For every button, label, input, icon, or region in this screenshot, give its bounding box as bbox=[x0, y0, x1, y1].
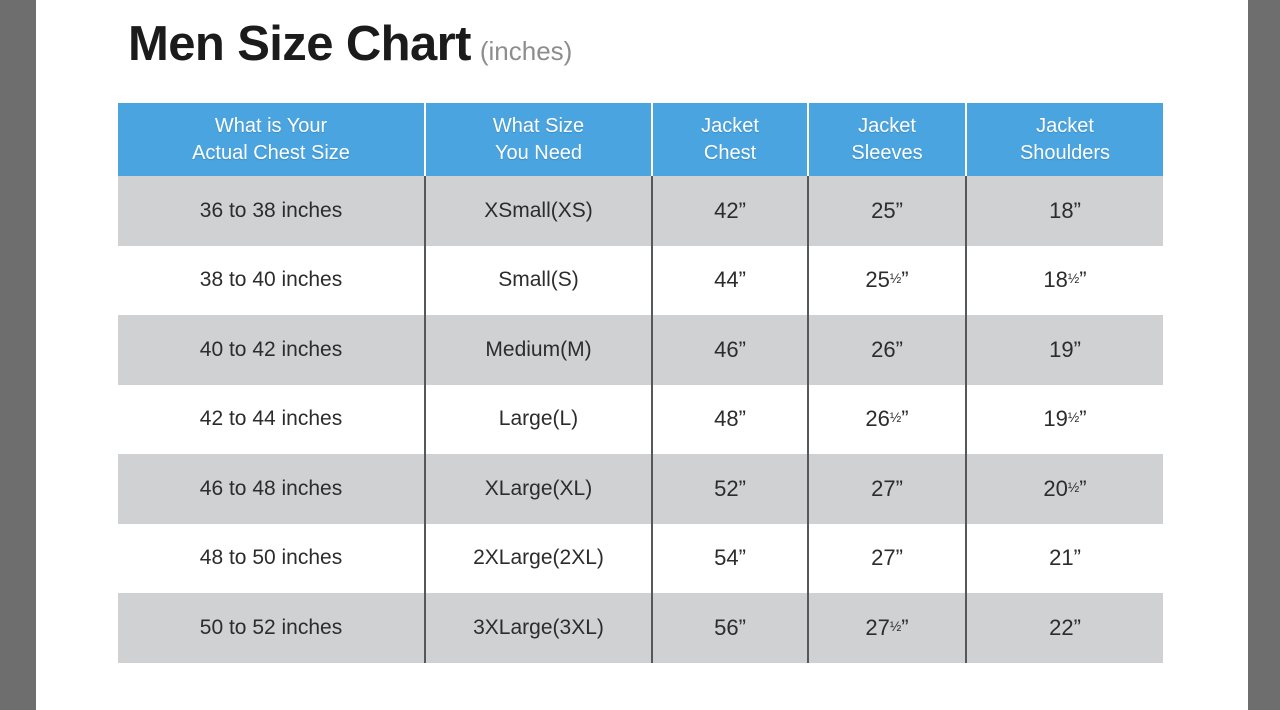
measurement-value: 27 bbox=[865, 615, 889, 640]
inch-mark: ” bbox=[1079, 476, 1086, 501]
page-title: Men Size Chart (inches) bbox=[128, 20, 572, 69]
cell-actual-chest-size: 50 to 52 inches bbox=[118, 593, 425, 663]
inch-mark: ” bbox=[739, 545, 746, 570]
cell-jacket-shoulders: 19½” bbox=[966, 385, 1163, 455]
measurement-value: 18 bbox=[1043, 267, 1067, 292]
slide-canvas: Men Size Chart (inches) What is Your Act… bbox=[36, 0, 1248, 710]
cell-size-you-need: 2XLarge(2XL) bbox=[425, 524, 652, 594]
column-header-line2: Sleeves bbox=[851, 142, 922, 164]
cell-actual-chest-size: 42 to 44 inches bbox=[118, 385, 425, 455]
measurement-value: 19 bbox=[1049, 337, 1073, 362]
table-row: 38 to 40 inchesSmall(S)44”25½”18½” bbox=[118, 246, 1163, 316]
table-header-row: What is Your Actual Chest Size What Size… bbox=[118, 103, 1163, 176]
column-header-line2: Actual Chest Size bbox=[192, 142, 350, 164]
cell-jacket-chest: 44” bbox=[652, 246, 808, 316]
measurement-value: 20 bbox=[1043, 476, 1067, 501]
cell-jacket-sleeves: 25” bbox=[808, 176, 966, 246]
measurement-value: 25 bbox=[871, 198, 895, 223]
column-header-line1: Jacket bbox=[1036, 115, 1094, 137]
cell-jacket-chest: 42” bbox=[652, 176, 808, 246]
measurement-fraction: ½ bbox=[1068, 480, 1079, 495]
cell-jacket-chest: 46” bbox=[652, 315, 808, 385]
column-header-jacket-sleeves: Jacket Sleeves bbox=[808, 103, 966, 176]
cell-size-you-need: Medium(M) bbox=[425, 315, 652, 385]
cell-jacket-chest: 52” bbox=[652, 454, 808, 524]
measurement-value: 27 bbox=[871, 545, 895, 570]
inch-mark: ” bbox=[896, 337, 903, 362]
measurement-fraction: ½ bbox=[1068, 410, 1079, 425]
table-row: 48 to 50 inches2XLarge(2XL)54”27”21” bbox=[118, 524, 1163, 594]
column-header-size-you-need: What Size You Need bbox=[425, 103, 652, 176]
cell-size-you-need: XSmall(XS) bbox=[425, 176, 652, 246]
cell-actual-chest-size: 36 to 38 inches bbox=[118, 176, 425, 246]
cell-jacket-shoulders: 20½” bbox=[966, 454, 1163, 524]
measurement-value: 22 bbox=[1049, 615, 1073, 640]
table-header: What is Your Actual Chest Size What Size… bbox=[118, 103, 1163, 176]
cell-jacket-shoulders: 19” bbox=[966, 315, 1163, 385]
inch-mark: ” bbox=[901, 615, 908, 640]
column-header-line2: Chest bbox=[704, 142, 756, 164]
measurement-value: 27 bbox=[871, 476, 895, 501]
inch-mark: ” bbox=[739, 198, 746, 223]
inch-mark: ” bbox=[739, 615, 746, 640]
cell-jacket-shoulders: 18” bbox=[966, 176, 1163, 246]
inch-mark: ” bbox=[896, 198, 903, 223]
column-header-jacket-shoulders: Jacket Shoulders bbox=[966, 103, 1163, 176]
measurement-value: 54 bbox=[714, 545, 738, 570]
inch-mark: ” bbox=[896, 476, 903, 501]
cell-jacket-shoulders: 22” bbox=[966, 593, 1163, 663]
cell-size-you-need: 3XLarge(3XL) bbox=[425, 593, 652, 663]
measurement-value: 46 bbox=[714, 337, 738, 362]
measurement-value: 56 bbox=[714, 615, 738, 640]
inch-mark: ” bbox=[739, 476, 746, 501]
measurement-fraction: ½ bbox=[1068, 271, 1079, 286]
cell-actual-chest-size: 38 to 40 inches bbox=[118, 246, 425, 316]
measurement-fraction: ½ bbox=[890, 410, 901, 425]
inch-mark: ” bbox=[1074, 198, 1081, 223]
inch-mark: ” bbox=[739, 337, 746, 362]
column-header-line1: Jacket bbox=[858, 115, 916, 137]
slide-stage: Men Size Chart (inches) What is Your Act… bbox=[0, 0, 1280, 710]
inch-mark: ” bbox=[1079, 406, 1086, 431]
letterbox-bar-left bbox=[0, 0, 36, 710]
inch-mark: ” bbox=[1074, 615, 1081, 640]
cell-actual-chest-size: 46 to 48 inches bbox=[118, 454, 425, 524]
column-header-line2: Shoulders bbox=[1020, 142, 1110, 164]
table-row: 40 to 42 inchesMedium(M)46”26”19” bbox=[118, 315, 1163, 385]
cell-size-you-need: Large(L) bbox=[425, 385, 652, 455]
cell-jacket-sleeves: 26½” bbox=[808, 385, 966, 455]
measurement-value: 19 bbox=[1043, 406, 1067, 431]
inch-mark: ” bbox=[901, 267, 908, 292]
inch-mark: ” bbox=[739, 406, 746, 431]
cell-size-you-need: XLarge(XL) bbox=[425, 454, 652, 524]
column-header-actual-chest-size: What is Your Actual Chest Size bbox=[118, 103, 425, 176]
cell-jacket-chest: 48” bbox=[652, 385, 808, 455]
letterbox-bar-right bbox=[1248, 0, 1280, 710]
measurement-value: 18 bbox=[1049, 198, 1073, 223]
inch-mark: ” bbox=[901, 406, 908, 431]
table-row: 46 to 48 inchesXLarge(XL)52”27”20½” bbox=[118, 454, 1163, 524]
inch-mark: ” bbox=[896, 545, 903, 570]
cell-actual-chest-size: 48 to 50 inches bbox=[118, 524, 425, 594]
measurement-fraction: ½ bbox=[890, 619, 901, 634]
measurement-value: 26 bbox=[871, 337, 895, 362]
column-header-line1: What Size bbox=[493, 115, 584, 137]
cell-jacket-sleeves: 27” bbox=[808, 524, 966, 594]
cell-actual-chest-size: 40 to 42 inches bbox=[118, 315, 425, 385]
measurement-fraction: ½ bbox=[890, 271, 901, 286]
cell-jacket-sleeves: 27” bbox=[808, 454, 966, 524]
measurement-value: 48 bbox=[714, 406, 738, 431]
measurement-value: 42 bbox=[714, 198, 738, 223]
page-title-unit: (inches) bbox=[480, 38, 572, 64]
measurement-value: 52 bbox=[714, 476, 738, 501]
table-row: 50 to 52 inches3XLarge(3XL)56”27½”22” bbox=[118, 593, 1163, 663]
inch-mark: ” bbox=[1074, 337, 1081, 362]
table-body: 36 to 38 inchesXSmall(XS)42”25”18”38 to … bbox=[118, 176, 1163, 663]
inch-mark: ” bbox=[1074, 545, 1081, 570]
table-row: 42 to 44 inchesLarge(L)48”26½”19½” bbox=[118, 385, 1163, 455]
cell-size-you-need: Small(S) bbox=[425, 246, 652, 316]
measurement-value: 26 bbox=[865, 406, 889, 431]
cell-jacket-chest: 56” bbox=[652, 593, 808, 663]
cell-jacket-sleeves: 27½” bbox=[808, 593, 966, 663]
measurement-value: 44 bbox=[714, 267, 738, 292]
inch-mark: ” bbox=[1079, 267, 1086, 292]
cell-jacket-chest: 54” bbox=[652, 524, 808, 594]
column-header-line2: You Need bbox=[495, 142, 582, 164]
cell-jacket-shoulders: 21” bbox=[966, 524, 1163, 594]
table-row: 36 to 38 inchesXSmall(XS)42”25”18” bbox=[118, 176, 1163, 246]
cell-jacket-shoulders: 18½” bbox=[966, 246, 1163, 316]
cell-jacket-sleeves: 26” bbox=[808, 315, 966, 385]
page-title-main: Men Size Chart bbox=[128, 20, 471, 69]
measurement-value: 21 bbox=[1049, 545, 1073, 570]
measurement-value: 25 bbox=[865, 267, 889, 292]
cell-jacket-sleeves: 25½” bbox=[808, 246, 966, 316]
column-header-jacket-chest: Jacket Chest bbox=[652, 103, 808, 176]
column-header-line1: Jacket bbox=[701, 115, 759, 137]
inch-mark: ” bbox=[739, 267, 746, 292]
size-chart-table: What is Your Actual Chest Size What Size… bbox=[118, 103, 1163, 663]
column-header-line1: What is Your bbox=[215, 115, 327, 137]
